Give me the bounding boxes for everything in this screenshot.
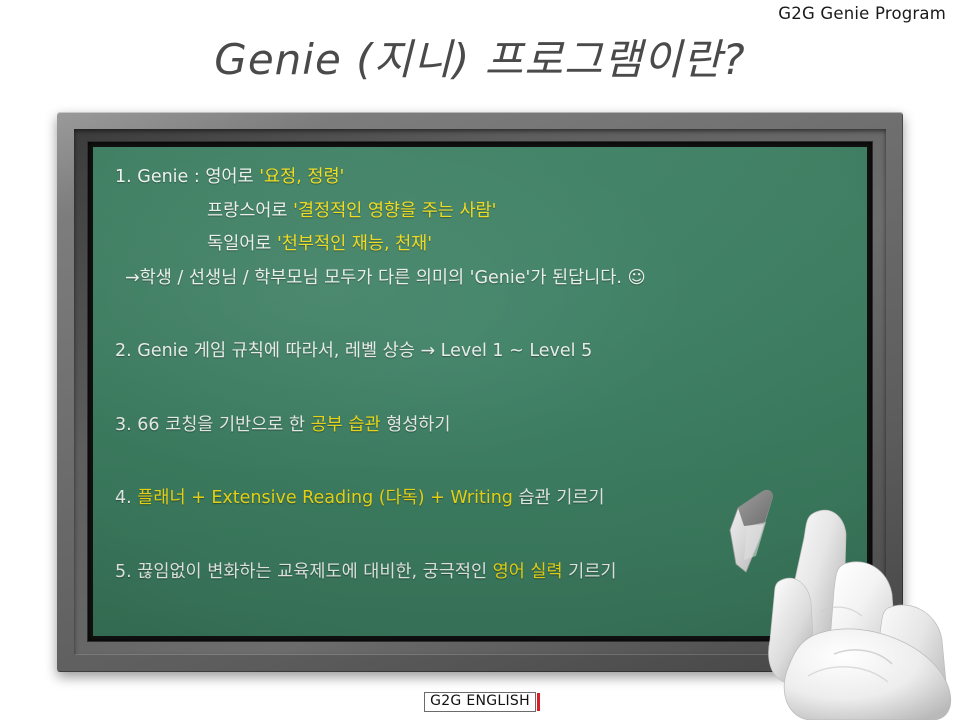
line-3-genie-german: 독일어로 '천부적인 재능, 천재' [207,236,849,254]
chalkboard-surface: 1. Genie : 영어로 '요정, 정령' 프랑스어로 '결정적인 영향을 … [93,147,867,636]
line-5-game-levels-segment-1: 2. Genie 게임 규칙에 따라서, 레벨 상승 → Level 1 ~ L… [115,341,592,361]
footer-logo-red-bar [537,693,540,711]
page-title: Genie (지니) 프로그램이란? [0,26,960,87]
line-7-planner-reading-writing-segment-2: 플래너 + Extensive Reading (다독) + Writing [137,488,513,508]
line-1-genie-english-segment-1: 1. Genie : 영어로 [115,167,259,187]
footer-logo-box: G2G ENGLISH [424,692,536,712]
line-6-coaching-habit-segment-3: 형성하기 [381,415,451,435]
line-2-genie-french: 프랑스어로 '결정적인 영향을 주는 사람' [207,203,849,221]
line-7-planner-reading-writing: 4. 플래너 + Extensive Reading (다독) + Writin… [115,490,849,508]
footer-logo-text: G2G ENGLISH [430,693,530,709]
chalkboard-content: 1. Genie : 영어로 '요정, 정령' 프랑스어로 '결정적인 영향을 … [93,147,867,636]
chalkboard: 1. Genie : 영어로 '요정, 정령' 프랑스어로 '결정적인 영향을 … [57,112,903,672]
line-4-genie-summary-segment-1: →학생 / 선생님 / 학부모님 모두가 다른 의미의 'Genie'가 된답니… [125,268,646,288]
line-5-game-levels: 2. Genie 게임 규칙에 따라서, 레벨 상승 → Level 1 ~ L… [115,343,849,361]
header-brand-label: G2G Genie Program [778,4,946,23]
line-6-coaching-habit-segment-1: 3. 66 코칭을 기반으로 한 [115,415,311,435]
line-8-english-ability: 5. 끊임없이 변화하는 교육제도에 대비한, 궁극적인 영어 실력 기르기 [115,564,849,582]
footer-logo: G2G ENGLISH [0,692,960,712]
line-7-planner-reading-writing-segment-1: 4. [115,488,137,508]
line-8-english-ability-segment-2: 영어 실력 [493,562,563,582]
line-3-genie-german-segment-2: '천부적인 재능, 천재' [277,234,432,254]
line-8-english-ability-segment-1: 5. 끊임없이 변화하는 교육제도에 대비한, 궁극적인 [115,562,493,582]
line-2-genie-french-segment-1: 프랑스어로 [207,201,293,221]
line-6-coaching-habit-segment-2: 공부 습관 [311,415,381,435]
line-6-coaching-habit: 3. 66 코칭을 기반으로 한 공부 습관 형성하기 [115,417,849,435]
line-7-planner-reading-writing-segment-3: 습관 기르기 [513,488,605,508]
line-1-genie-english: 1. Genie : 영어로 '요정, 정령' [115,169,849,187]
line-4-genie-summary: →학생 / 선생님 / 학부모님 모두가 다른 의미의 'Genie'가 된답니… [125,270,849,288]
line-3-genie-german-segment-1: 독일어로 [207,234,277,254]
line-8-english-ability-segment-3: 기르기 [563,562,617,582]
line-1-genie-english-segment-2: '요정, 정령' [259,167,344,187]
line-2-genie-french-segment-2: '결정적인 영향을 주는 사람' [293,201,496,221]
